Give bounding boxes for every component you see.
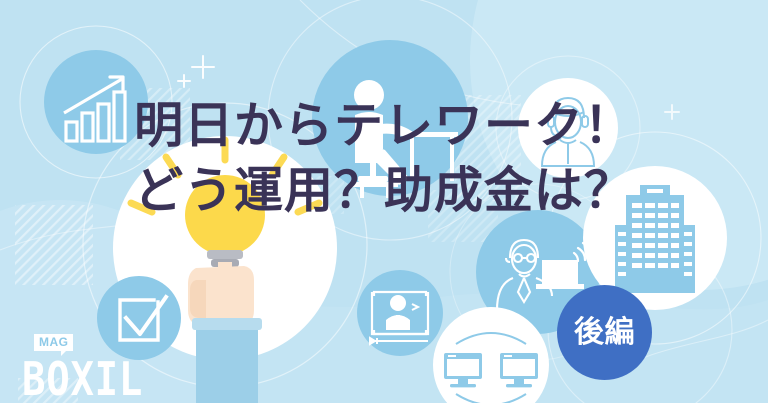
part-badge-label: 後編 — [574, 318, 635, 348]
mag-label: MAG — [34, 334, 73, 351]
growth-chart-icon — [44, 50, 148, 154]
part-badge: 後編 — [557, 285, 652, 380]
headset-operator-icon — [518, 78, 618, 178]
boxil-mag-logo[interactable]: MAG BOXIL — [22, 333, 150, 398]
person-at-desk-icon — [312, 40, 468, 198]
telework-article-banner: 明日からテレワーク！ どう運用？助成金は？ 後編 MAG BOXIL — [0, 0, 768, 403]
boxil-wordmark: BOXIL — [22, 357, 143, 403]
video-meeting-icon — [357, 270, 443, 356]
mag-bubble: MAG — [34, 333, 73, 351]
